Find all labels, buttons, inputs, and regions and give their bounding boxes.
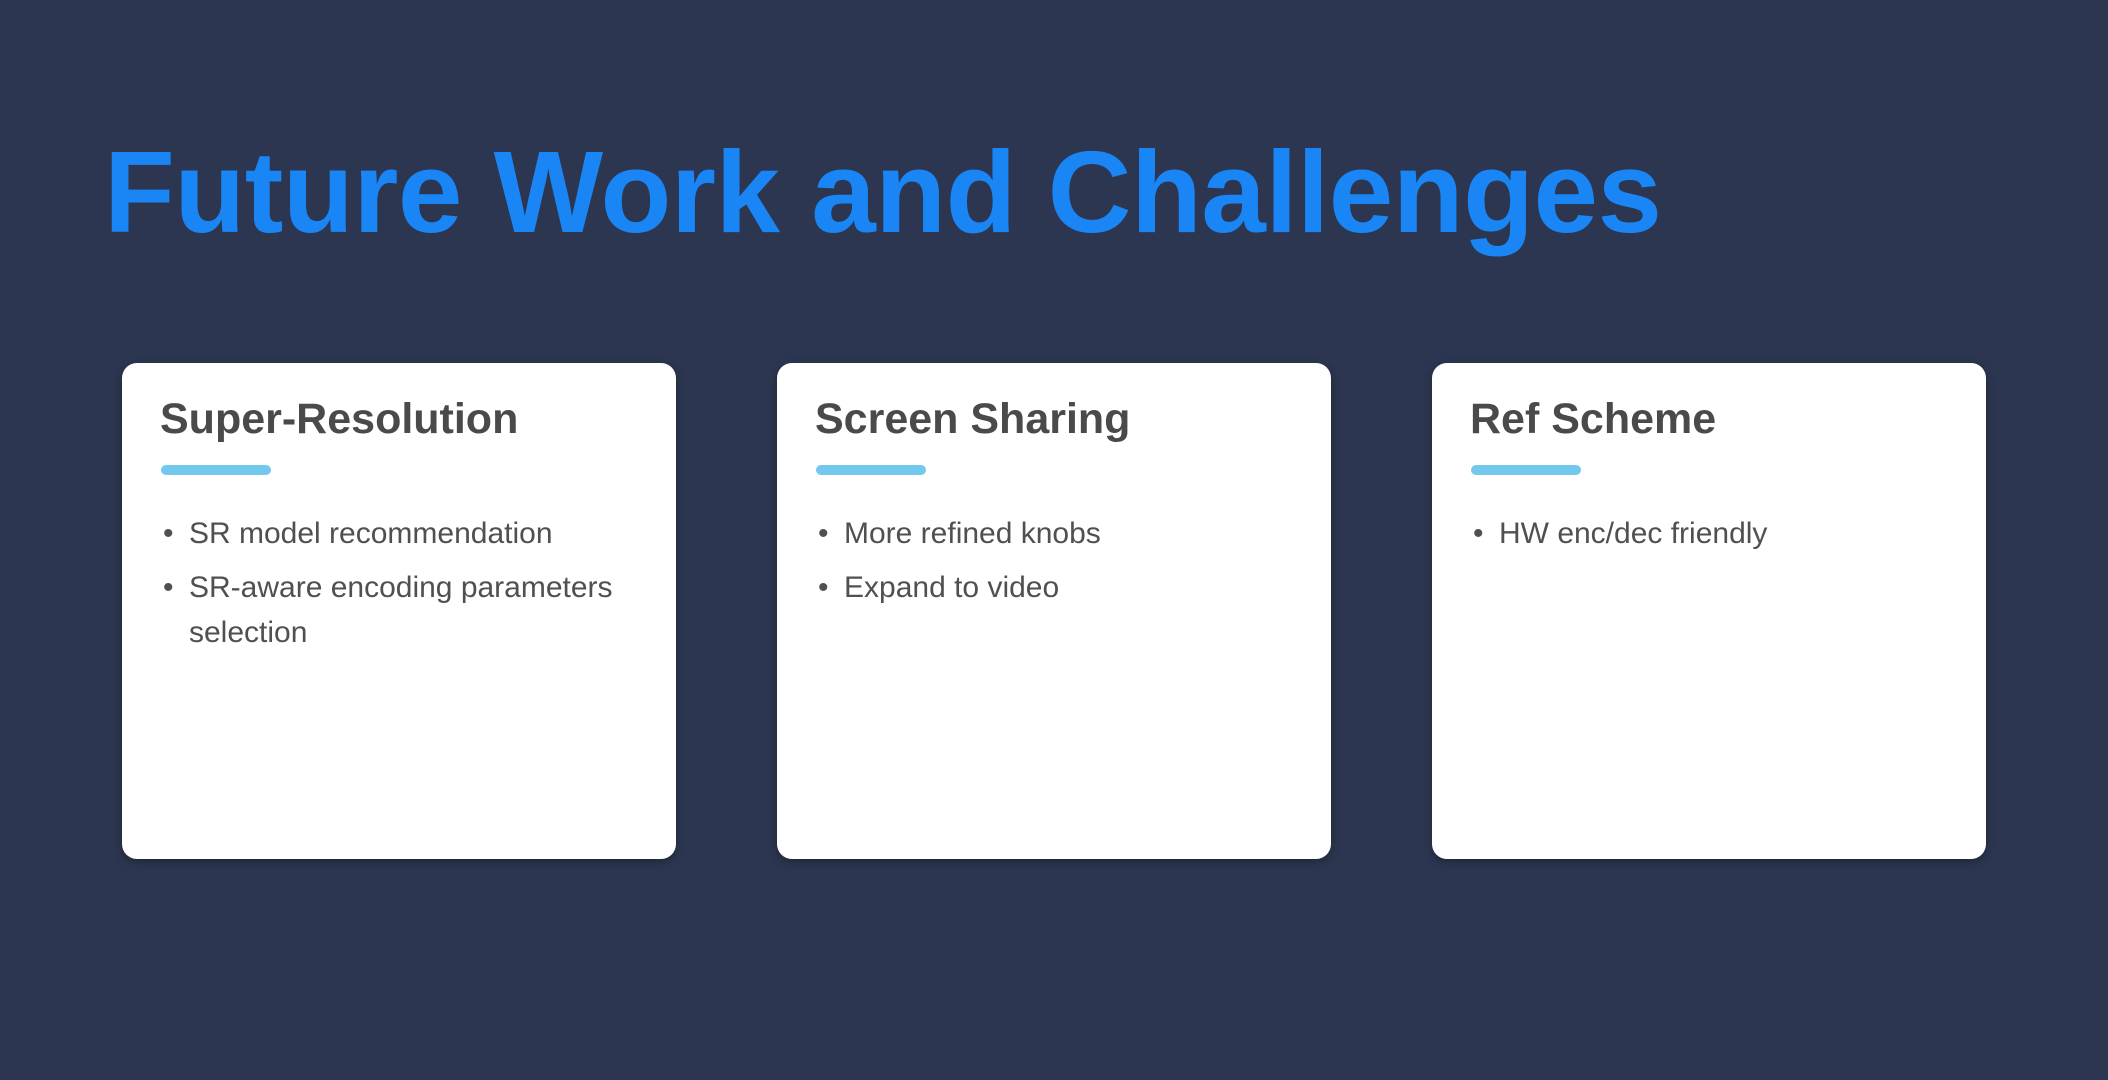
card-bullet-list: • SR model recommendation • SR-aware enc…: [156, 511, 647, 664]
slide-canvas: Future Work and Challenges Super-Resolut…: [0, 0, 2108, 1080]
list-item-label: SR-aware encoding parameters selection: [189, 571, 613, 650]
card-super-resolution[interactable]: Super-Resolution • SR model recommendati…: [122, 363, 676, 859]
list-item: • SR model recommendation: [161, 511, 647, 557]
card-row: Super-Resolution • SR model recommendati…: [122, 363, 1986, 859]
bullet-icon: •: [163, 511, 174, 557]
card-bullet-list: • HW enc/dec friendly: [1466, 511, 1957, 565]
page-title: Future Work and Challenges: [104, 134, 1662, 250]
list-item-label: Expand to video: [844, 571, 1059, 604]
list-item-label: SR model recommendation: [189, 517, 553, 550]
accent-bar: [816, 465, 926, 475]
accent-bar: [1471, 465, 1581, 475]
card-ref-scheme[interactable]: Ref Scheme • HW enc/dec friendly: [1432, 363, 1986, 859]
list-item-label: More refined knobs: [844, 517, 1101, 550]
bullet-icon: •: [818, 565, 829, 611]
card-title: Screen Sharing: [811, 395, 1130, 443]
card-title: Ref Scheme: [1466, 395, 1716, 443]
bullet-icon: •: [1473, 511, 1484, 557]
bullet-icon: •: [163, 565, 174, 611]
list-item: • More refined knobs: [816, 511, 1302, 557]
list-item: • Expand to video: [816, 565, 1302, 611]
card-screen-sharing[interactable]: Screen Sharing • More refined knobs • Ex…: [777, 363, 1331, 859]
bullet-icon: •: [818, 511, 829, 557]
list-item: • SR-aware encoding parameters selection: [161, 565, 647, 656]
card-title: Super-Resolution: [156, 395, 518, 443]
list-item-label: HW enc/dec friendly: [1499, 517, 1767, 550]
accent-bar: [161, 465, 271, 475]
list-item: • HW enc/dec friendly: [1471, 511, 1957, 557]
card-bullet-list: • More refined knobs • Expand to video: [811, 511, 1302, 618]
